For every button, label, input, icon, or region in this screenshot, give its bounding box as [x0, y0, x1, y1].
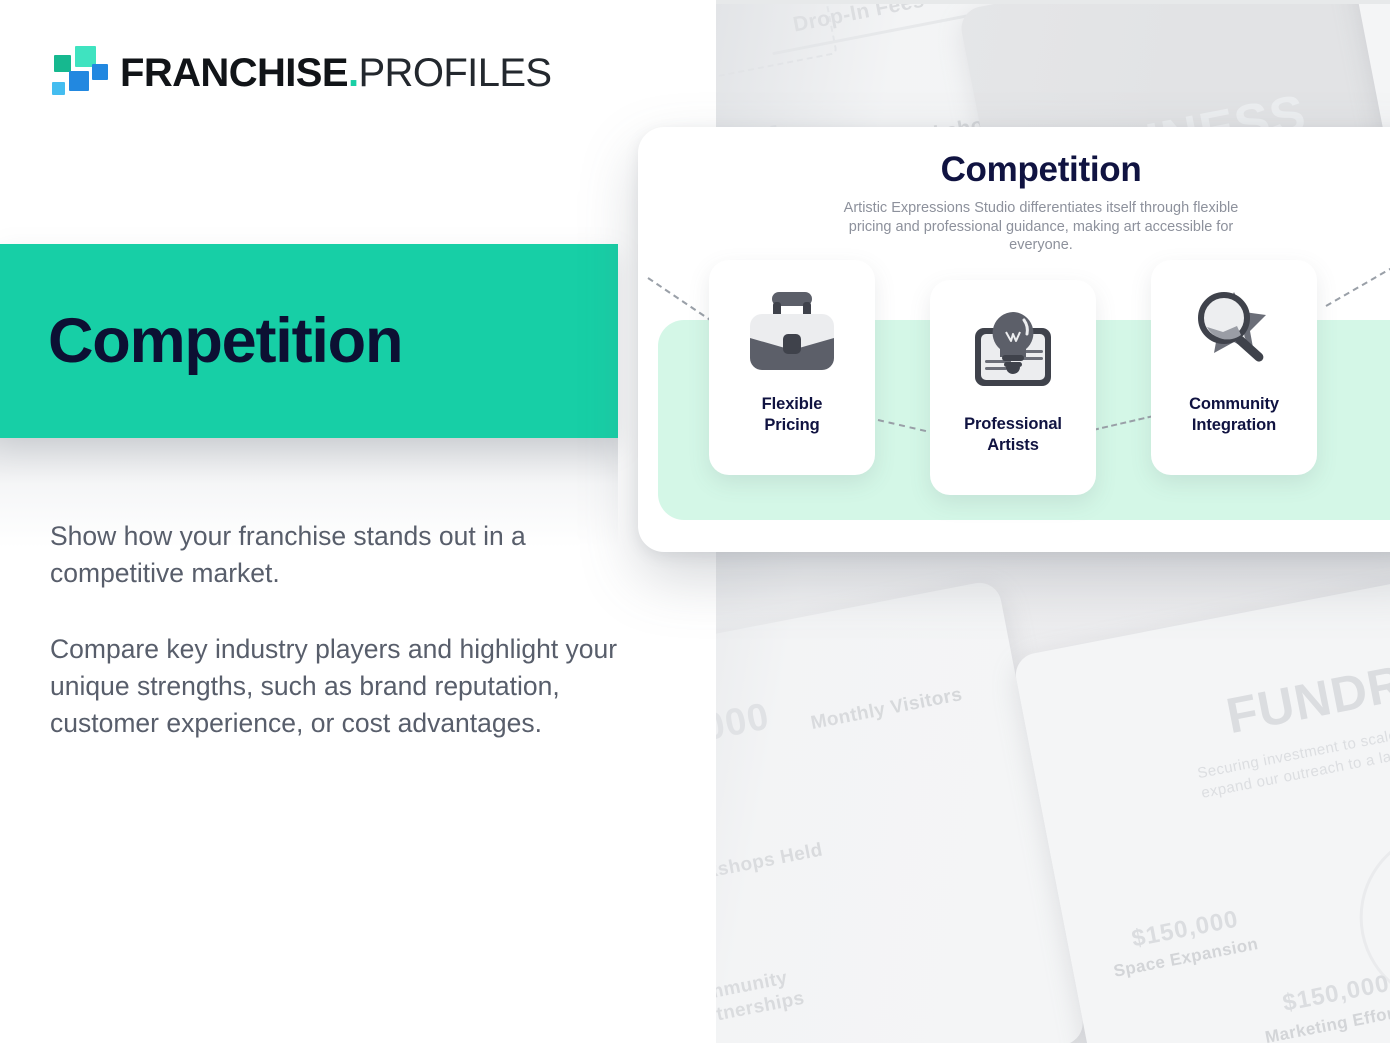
- feature-card-community-integration[interactable]: Community Integration: [1151, 260, 1317, 475]
- brand-logo[interactable]: FRANCHISE.PROFILES: [48, 44, 552, 102]
- feature-label-line2: Integration: [1192, 416, 1276, 434]
- background-card-metrics: 1,000 Monthly Visitors 75 Workshops Held…: [715, 579, 1087, 1043]
- feature-label-line1: Professional: [964, 415, 1062, 433]
- description-paragraph-2: Compare key industry players and highlig…: [50, 631, 635, 742]
- top-divider-strip: [716, 0, 1390, 4]
- feature-label-line1: Community: [1189, 395, 1279, 413]
- feature-label: Professional Artists: [964, 414, 1062, 456]
- feature-card-flexible-pricing[interactable]: Flexible Pricing: [709, 260, 875, 475]
- background-label: Monthly Visitors: [809, 684, 964, 735]
- description-text: Show how your franchise stands out in a …: [50, 518, 635, 742]
- squares-logo-mark-icon: [48, 44, 106, 102]
- slide-subtitle: Artistic Expressions Studio differentiat…: [841, 199, 1241, 255]
- page-title: Competition: [48, 308, 402, 374]
- background-title: FUNDRAISING: [1222, 620, 1390, 745]
- description-paragraph-1: Show how your franchise stands out in a …: [50, 518, 635, 592]
- slide-preview-card[interactable]: Competition Artistic Expressions Studio …: [638, 127, 1390, 552]
- brand-name-bold: FRANCHISE: [120, 51, 348, 95]
- brand-name-light: PROFILES: [358, 51, 551, 95]
- lightbulb-document-icon: [961, 304, 1065, 400]
- feature-card-professional-artists[interactable]: Professional Artists: [930, 280, 1096, 495]
- section-banner: Competition: [0, 244, 618, 438]
- feature-label-line1: Flexible: [762, 395, 823, 413]
- feature-label: Community Integration: [1189, 394, 1279, 436]
- connector-dash-right: [1326, 250, 1390, 307]
- feature-label-line2: Pricing: [764, 416, 819, 434]
- connector-dash-left: [647, 277, 713, 322]
- left-panel: FRANCHISE.PROFILES Competition Show how …: [0, 0, 716, 1043]
- briefcase-icon: [740, 284, 844, 380]
- background-label: Community Partnerships: [715, 961, 825, 1033]
- slide-canvas: Drop-In Fees Session Workshops Commissio…: [0, 0, 1390, 1043]
- brand-name-dot: .: [348, 51, 359, 95]
- feature-label-line2: Artists: [987, 436, 1039, 454]
- background-label: Workshops Held: [715, 840, 825, 891]
- magnifier-star-icon: [1182, 284, 1286, 380]
- slide-title: Competition: [638, 150, 1390, 190]
- feature-label: Flexible Pricing: [762, 394, 823, 436]
- brand-wordmark: FRANCHISE.PROFILES: [120, 53, 552, 93]
- background-metric-value: 1,000: [715, 695, 773, 756]
